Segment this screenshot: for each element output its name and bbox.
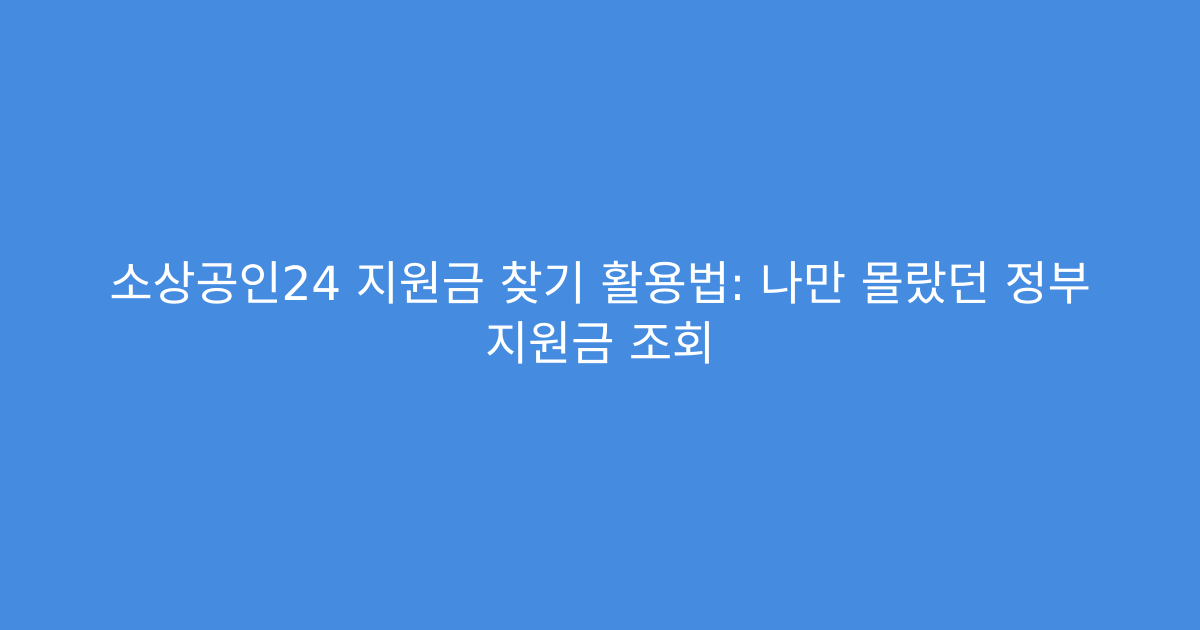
title-block: 소상공인24 지원금 찾기 활용법: 나만 몰랐던 정부 지원금 조회: [70, 255, 1130, 375]
social-share-card: 소상공인24 지원금 찾기 활용법: 나만 몰랐던 정부 지원금 조회: [0, 0, 1200, 630]
page-title: 소상공인24 지원금 찾기 활용법: 나만 몰랐던 정부 지원금 조회: [70, 255, 1130, 375]
